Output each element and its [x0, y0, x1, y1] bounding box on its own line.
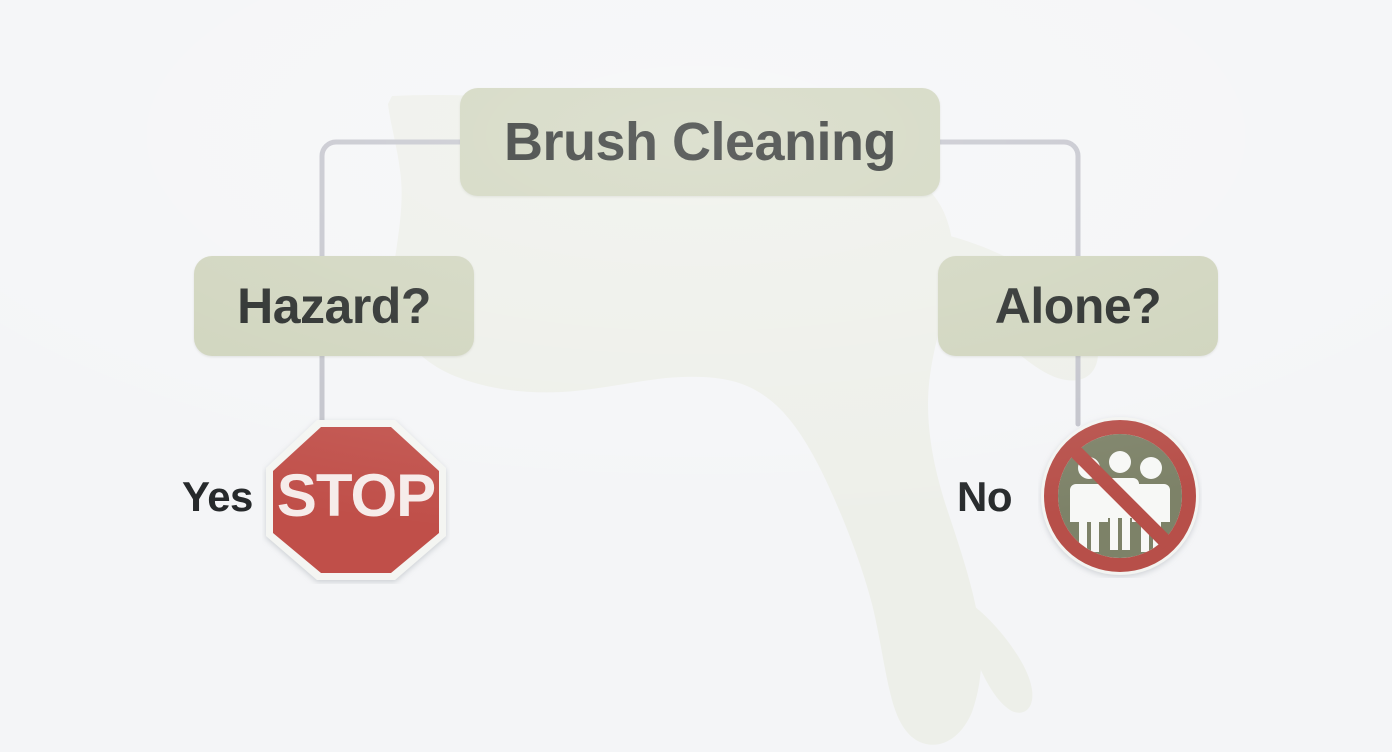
branch-label-no: No [957, 473, 1012, 521]
no-group-prohibition-icon[interactable] [1038, 414, 1202, 578]
node-brush-cleaning[interactable]: Brush Cleaning [460, 88, 940, 196]
node-alone-label: Alone? [995, 277, 1161, 335]
node-brush-cleaning-label: Brush Cleaning [504, 111, 896, 173]
node-hazard-label: Hazard? [237, 277, 431, 335]
node-alone[interactable]: Alone? [938, 256, 1218, 356]
stop-sign-icon[interactable]: STOP [262, 416, 450, 584]
diagram-canvas: Brush Cleaning Hazard? Alone? Yes No STO… [0, 0, 1392, 752]
branch-label-yes: Yes [182, 473, 253, 521]
stop-sign-text: STOP [277, 462, 435, 529]
node-hazard[interactable]: Hazard? [194, 256, 474, 356]
